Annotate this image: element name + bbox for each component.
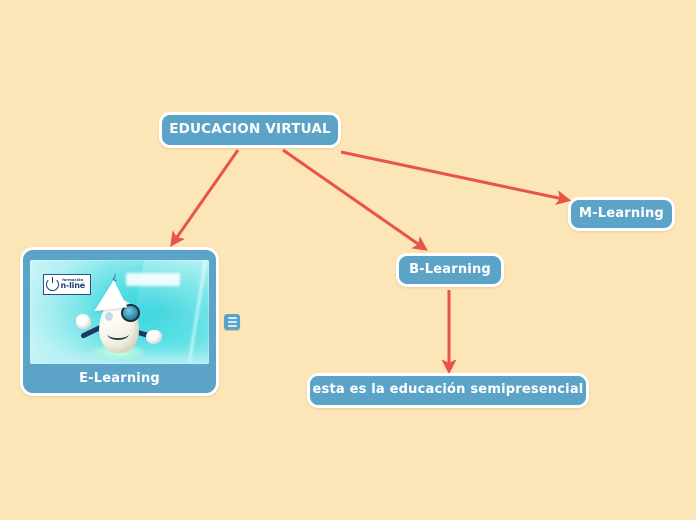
- node-educacion-virtual[interactable]: EDUCACION VIRTUAL: [159, 112, 341, 148]
- character-mouth: [107, 328, 129, 340]
- node-label: B-Learning: [409, 263, 491, 278]
- notes-icon-line: [228, 317, 237, 319]
- node-label: esta es la educación semipresencial: [313, 383, 584, 398]
- node-label: EDUCACION VIRTUAL: [169, 122, 331, 138]
- character-right-hand: [146, 330, 162, 344]
- edge-root-to-elearning: [175, 150, 238, 240]
- node-b-learning[interactable]: B-Learning: [396, 253, 504, 287]
- notes-icon-line: [228, 321, 237, 323]
- node-label: E-Learning: [33, 371, 206, 386]
- mindmap-canvas[interactable]: EDUCACION VIRTUAL M-Learning B-Learning …: [0, 0, 696, 520]
- edge-root-to-blearning: [283, 150, 421, 246]
- node-label: M-Learning: [579, 207, 664, 222]
- character-left-hand: [76, 314, 91, 329]
- notes-icon[interactable]: [224, 314, 240, 330]
- power-icon: [46, 278, 59, 291]
- e-learning-thumbnail[interactable]: formación n-line ¿: [30, 260, 209, 364]
- node-educacion-semipresencial[interactable]: esta es la educación semipresencial: [307, 373, 589, 408]
- notes-icon-line: [228, 325, 237, 327]
- edge-root-to-mlearning: [341, 152, 563, 199]
- node-m-learning[interactable]: M-Learning: [568, 197, 675, 231]
- node-e-learning[interactable]: formación n-line ¿ E-Learning: [20, 247, 219, 396]
